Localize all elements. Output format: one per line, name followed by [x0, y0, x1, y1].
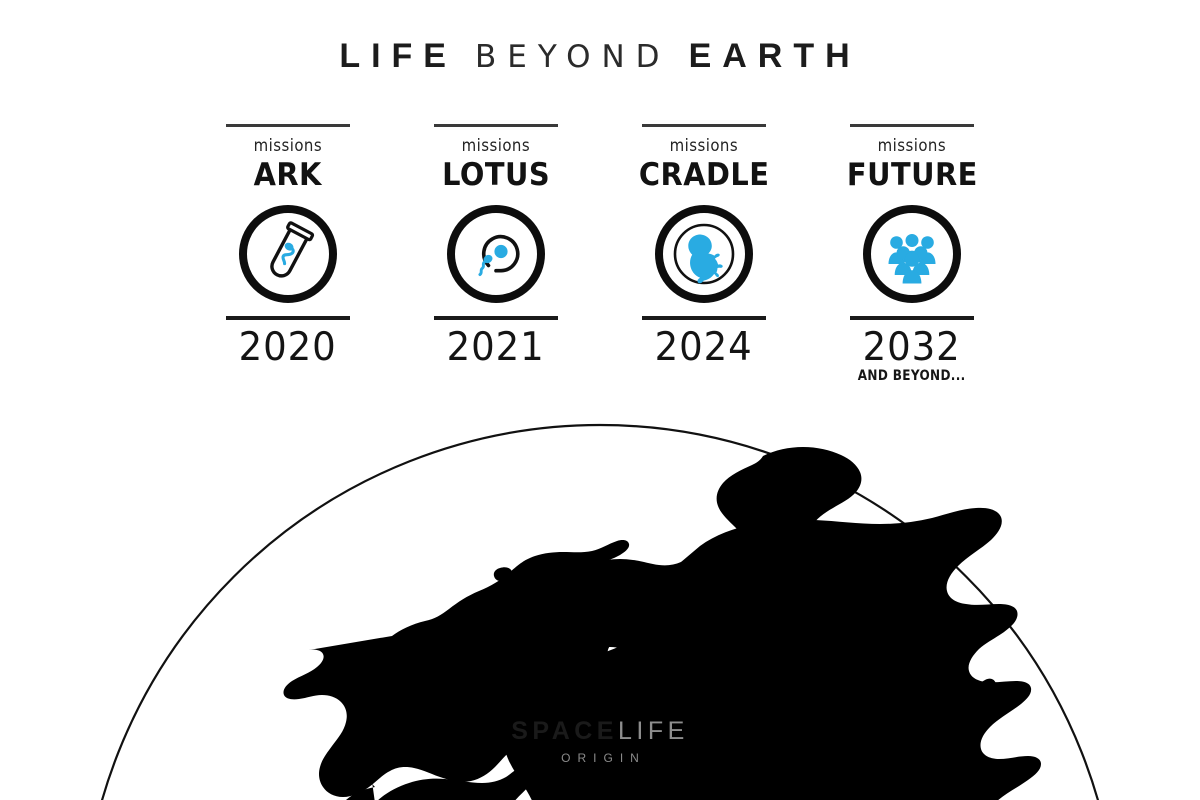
mission-year: 2021 [447, 326, 545, 370]
mission-eyebrow: missions [462, 136, 530, 156]
mission-card-future[interactable]: missions FUTURE [836, 124, 988, 384]
mission-card-lotus[interactable]: missions LOTUS 2021 [420, 124, 572, 370]
logo-word-life: LIFE [618, 717, 689, 745]
card-top-rule [850, 124, 974, 127]
mission-name: ARK [254, 157, 322, 193]
mission-year: 2020 [239, 326, 337, 370]
mission-year: 2024 [655, 326, 753, 370]
mission-name: LOTUS [442, 157, 550, 193]
title-word-earth: EARTH [689, 37, 861, 75]
test-tube-icon [236, 202, 340, 306]
logo-subtitle: ORIGIN [0, 752, 1200, 764]
mission-year: 2032 [863, 326, 961, 370]
mission-timeline: missions ARK 2020 missions LO [0, 124, 1200, 384]
card-top-rule [642, 124, 766, 127]
card-top-rule [226, 124, 350, 127]
mission-card-ark[interactable]: missions ARK 2020 [212, 124, 364, 370]
mission-year-note: AND BEYOND... [858, 368, 966, 384]
infographic-page: LIFEBEYONDEARTH missions ARK 2 [0, 0, 1200, 800]
people-group-icon [860, 202, 964, 306]
mission-name: FUTURE [847, 157, 978, 193]
fetus-icon [652, 202, 756, 306]
brand-logo: SPACELIFE ORIGIN [0, 718, 1200, 764]
mission-eyebrow: missions [878, 136, 946, 156]
card-bottom-rule [434, 316, 558, 320]
mission-name: CRADLE [639, 157, 769, 193]
card-top-rule [434, 124, 558, 127]
mission-card-cradle[interactable]: missions CRADLE 2024 [628, 124, 780, 370]
card-bottom-rule [642, 316, 766, 320]
mission-eyebrow: missions [254, 136, 322, 156]
sperm-and-ovum-icon [444, 202, 548, 306]
title-word-life: LIFE [339, 37, 457, 75]
card-bottom-rule [226, 316, 350, 320]
logo-word-space: SPACE [511, 717, 618, 745]
title-word-beyond: BEYOND [475, 39, 671, 75]
logo-wordmark: SPACELIFE [0, 718, 1200, 745]
page-title: LIFEBEYONDEARTH [0, 36, 1200, 77]
mission-eyebrow: missions [670, 136, 738, 156]
card-bottom-rule [850, 316, 974, 320]
